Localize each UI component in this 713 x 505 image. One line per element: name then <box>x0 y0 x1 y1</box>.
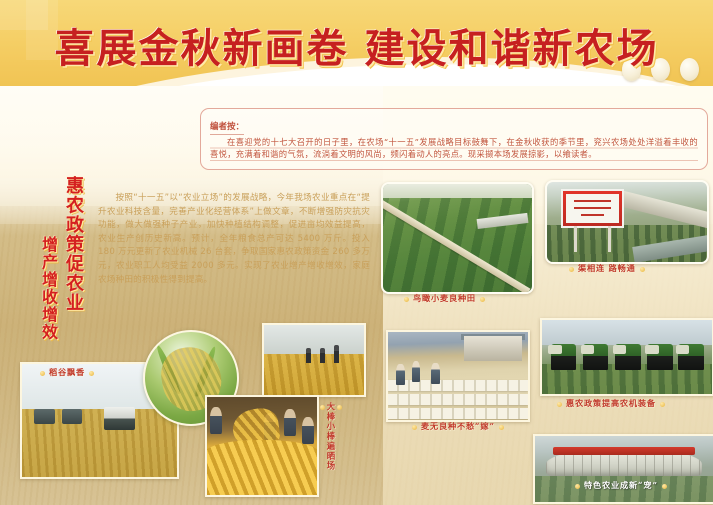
bullet-dot-icon <box>337 405 342 410</box>
bullet-dot-icon <box>404 297 409 302</box>
vertical-headline-main: 惠农政策促农业 <box>60 176 86 313</box>
photo-combine-harvester <box>34 409 54 424</box>
photo-corn-crop <box>264 354 364 395</box>
sign-text-line <box>574 207 612 209</box>
caption-canal-sign: 渠相连 路畅通 <box>565 262 649 274</box>
photo-person <box>284 409 296 436</box>
photo-corn-heap <box>205 440 319 497</box>
photo-wheat-aerial <box>381 182 534 294</box>
photo-tractors <box>540 318 713 396</box>
photo-person <box>302 417 314 444</box>
photo-person <box>306 348 311 363</box>
photo-tractor <box>551 344 577 371</box>
photo-sky <box>383 184 532 198</box>
bullet-dot-icon <box>660 402 665 407</box>
photo-tractor <box>647 344 673 371</box>
photo-person <box>431 363 439 384</box>
photo-grain-bags <box>386 330 530 422</box>
caption-greenhouse: 特色农业成新“宠” <box>571 479 671 491</box>
photo-sky <box>542 320 712 345</box>
photo-person <box>412 361 420 382</box>
bullet-dot-icon <box>662 484 667 489</box>
caption-tractors: 惠农政策提高农机装备 <box>553 397 669 409</box>
photo-canal-sign <box>545 180 709 264</box>
vertical-headline-sub: 增产增收增效 <box>36 236 60 341</box>
photo-person <box>396 364 404 385</box>
bullet-dot-icon <box>575 484 580 489</box>
bullet-dot-icon <box>557 402 562 407</box>
photo-signboard-face <box>566 194 618 222</box>
caption-grain-bags: 麦无良种不愁“嫁” <box>408 420 508 432</box>
sign-text-line <box>574 200 612 202</box>
caption-corn-pile: 大棒小棒遍晒场 <box>320 402 342 471</box>
editor-note-body: 在喜迎党的十七大召开的日子里，在农场“十一五”发展战略目标鼓舞下，在金秋收获的季… <box>210 136 698 161</box>
bullet-dot-icon <box>569 267 574 272</box>
caption-rice-harvest: 稻谷飘香 <box>36 366 98 378</box>
photo-person <box>210 407 222 434</box>
photo-person <box>334 345 339 363</box>
photo-combine-harvester <box>62 409 82 424</box>
photo-canal <box>614 189 709 229</box>
caption-wheat-aerial: 鸟瞰小麦良种田 <box>400 292 489 304</box>
photo-corn-pile <box>205 395 319 497</box>
editor-note-label: 编者按： <box>210 122 244 135</box>
article-body-text: 按照“十一五”以“农业立场”的发展战略，今年我场农业重点在“提升农业科技含量，完… <box>98 192 370 287</box>
photo-road <box>381 193 531 294</box>
bullet-dot-icon <box>640 267 645 272</box>
bullet-dot-icon <box>89 371 94 376</box>
bullet-dot-icon <box>40 371 45 376</box>
photo-building <box>464 336 523 361</box>
bullet-dot-icon <box>499 425 504 430</box>
photo-greenhouse <box>533 434 713 504</box>
poster-board: 喜展金秋新画卷 建设和谐新农场 编者按： 在喜迎党的十七大召开的日子里，在农场“… <box>0 0 713 505</box>
poster-title: 喜展金秋新画卷 建设和谐新农场 <box>0 16 713 74</box>
photo-grain-bag-row <box>388 408 528 419</box>
photo-combine-harvester <box>104 407 135 430</box>
photo-sign-post <box>574 226 577 252</box>
photo-shed <box>476 213 527 229</box>
photo-field-inspect <box>262 323 366 397</box>
photo-sign-post <box>608 226 611 252</box>
photo-grain-bag-row <box>388 394 528 405</box>
editor-note-box: 编者按： 在喜迎党的十七大召开的日子里，在农场“十一五”发展战略目标鼓舞下，在金… <box>200 108 708 170</box>
photo-signboard <box>561 189 623 227</box>
photo-tractor <box>615 344 641 371</box>
photo-tractor <box>678 344 704 371</box>
bullet-dot-icon <box>320 405 325 410</box>
photo-sky <box>264 325 364 356</box>
photo-grain-bag-row <box>388 380 528 391</box>
photo-person <box>320 348 325 363</box>
photo-red-banner <box>553 447 695 455</box>
bullet-dot-icon <box>412 425 417 430</box>
poster-header: 喜展金秋新画卷 建设和谐新农场 <box>0 0 713 88</box>
sign-text-line <box>581 214 604 216</box>
bullet-dot-icon <box>480 297 485 302</box>
photo-tractor <box>583 344 609 371</box>
